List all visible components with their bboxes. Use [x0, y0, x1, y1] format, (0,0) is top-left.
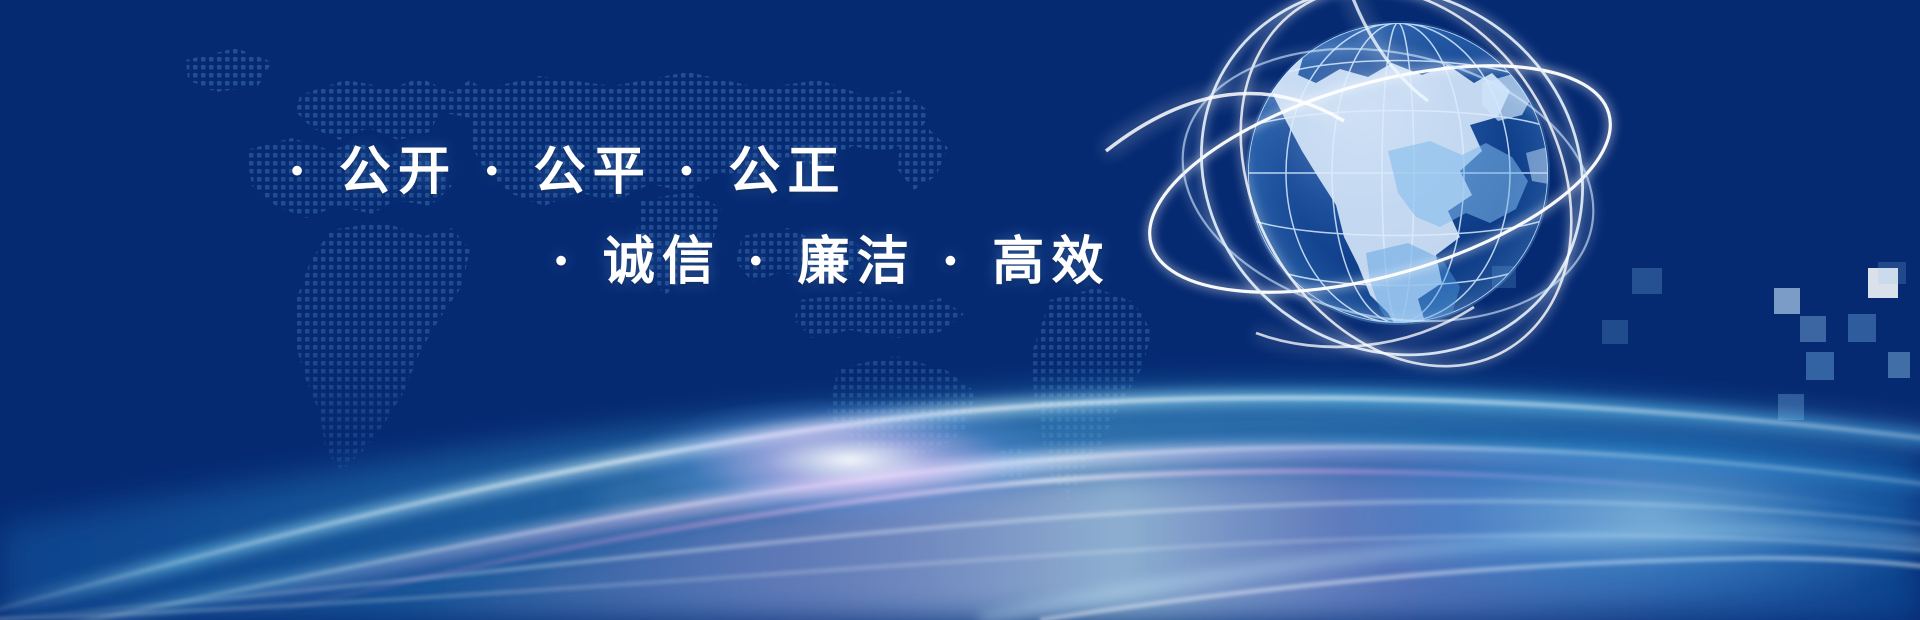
banner-root: · 公开 · 公平 · 公正 · 诚信 · 廉洁 · 高效	[0, 0, 1920, 620]
slogan-line-2: · 诚信 · 廉洁 · 高效	[552, 236, 1111, 288]
light-wave-graphic	[0, 290, 1920, 620]
decorative-square	[1492, 266, 1516, 288]
decorative-square	[1878, 262, 1906, 284]
slogan-line-1: · 公开 · 公平 · 公正	[288, 146, 847, 198]
